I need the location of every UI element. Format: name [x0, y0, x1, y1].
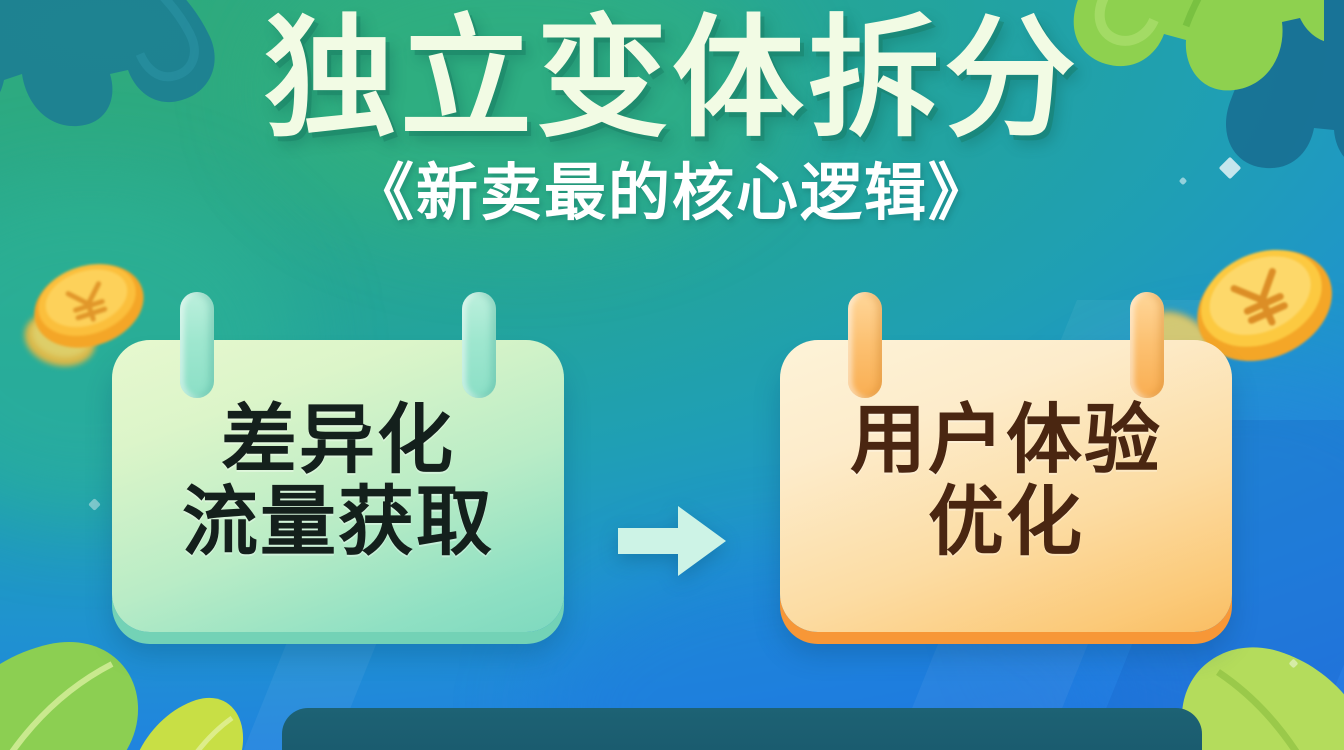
page-title: 独立变体拆分	[0, 12, 1344, 147]
bottom-panel	[282, 708, 1202, 750]
card-label-line1: 用户体验	[850, 400, 1162, 482]
card-label-line2: 优化	[928, 482, 1084, 564]
poster-canvas: 独立变体拆分 《新卖最的核心逻辑》 差异化 流量获取 用户体验 优化	[0, 0, 1344, 750]
cards-row: 差异化 流量获取 用户体验 优化	[0, 340, 1344, 670]
card-label-line2: 流量获取	[182, 482, 494, 564]
pin-icon	[1130, 292, 1164, 398]
card-differentiated-traffic[interactable]: 差异化 流量获取	[112, 340, 564, 632]
card-label-line1: 差异化	[221, 400, 455, 482]
pin-icon	[462, 292, 496, 398]
heading-block: 独立变体拆分 《新卖最的核心逻辑》	[0, 12, 1344, 225]
pin-icon	[848, 292, 882, 398]
page-subtitle: 《新卖最的核心逻辑》	[0, 163, 1344, 225]
leaf-bottom-left-small-icon	[100, 670, 250, 750]
card-user-experience[interactable]: 用户体验 优化	[780, 340, 1232, 632]
right-arrow-icon	[616, 500, 728, 582]
pin-icon	[180, 292, 214, 398]
